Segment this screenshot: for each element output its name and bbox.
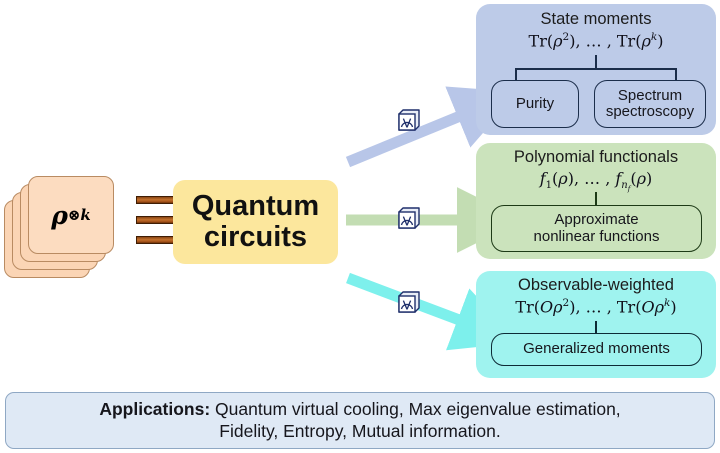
panel-polynomial-formula: f1(ρ), … , fnf(ρ)	[476, 169, 716, 193]
applications-text: Applications: Quantum virtual cooling, M…	[99, 399, 620, 443]
panel-observable-weighted: Observable-weighted Tr(Oρ2), … , Tr(Oρk)…	[476, 271, 716, 378]
panel-state-moments-formula: Tr(ρ2), … , Tr(ρk)	[476, 31, 716, 50]
panel-state-moments-title: State moments	[476, 10, 716, 28]
rho-symbol: ρ	[51, 201, 68, 230]
connector-vertical-main	[595, 55, 597, 69]
diagram-canvas: ρ⊗k Quantum circuits	[0, 0, 720, 453]
panel-observable-title: Observable-weighted	[476, 276, 716, 294]
density-matrix-stack: ρ⊗k	[4, 176, 132, 280]
subbox-approx-line2: nonlinear functions	[534, 229, 660, 245]
quantum-circuits-label: Quantum circuits	[192, 191, 319, 252]
rho-exponent: ⊗k	[68, 206, 91, 224]
rho-tensor-power-label: ρ⊗k	[28, 176, 114, 254]
subbox-approx-line1: Approximate	[534, 212, 660, 228]
subbox-spectrum-spectroscopy: Spectrum spectroscopy	[594, 80, 706, 128]
applications-label: Applications:	[99, 399, 210, 419]
panel-polynomial-title: Polynomial functionals	[476, 148, 716, 166]
subbox-generalized-moments: Generalized moments	[491, 333, 702, 366]
panel-observable-formula: Tr(Oρ2), … , Tr(Oρk)	[476, 297, 716, 316]
connector-vertical-main	[595, 192, 597, 206]
quantum-circuits-line2: circuits	[192, 222, 319, 253]
arrow-shaft	[136, 216, 175, 224]
applications-line1: Applications: Quantum virtual cooling, M…	[99, 399, 620, 421]
panel-state-moments: State moments Tr(ρ2), … , Tr(ρk) Purity …	[476, 4, 716, 135]
arrow-shaft	[136, 196, 175, 204]
panel-polynomial-functionals: Polynomial functionals f1(ρ), … , fnf(ρ)…	[476, 143, 716, 259]
subbox-spectrum-line2: spectroscopy	[606, 104, 694, 120]
arrow-shaft	[136, 236, 175, 244]
quantum-circuits-box: Quantum circuits	[173, 180, 338, 264]
measurement-meter-icon	[396, 290, 422, 316]
measurement-meter-icon	[396, 206, 422, 232]
subbox-approximate-nonlinear-functions: Approximate nonlinear functions	[491, 205, 702, 252]
subbox-spectrum-line1: Spectrum	[606, 88, 694, 104]
quantum-circuits-line1: Quantum	[192, 191, 319, 222]
applications-bar: Applications: Quantum virtual cooling, M…	[5, 392, 715, 449]
measurement-meter-icon	[396, 108, 422, 134]
subbox-purity: Purity	[491, 80, 579, 128]
applications-line2: Fidelity, Entropy, Mutual information.	[99, 421, 620, 443]
connector-horizontal	[515, 68, 677, 70]
applications-line1-rest: Quantum virtual cooling, Max eigenvalue …	[210, 399, 621, 419]
